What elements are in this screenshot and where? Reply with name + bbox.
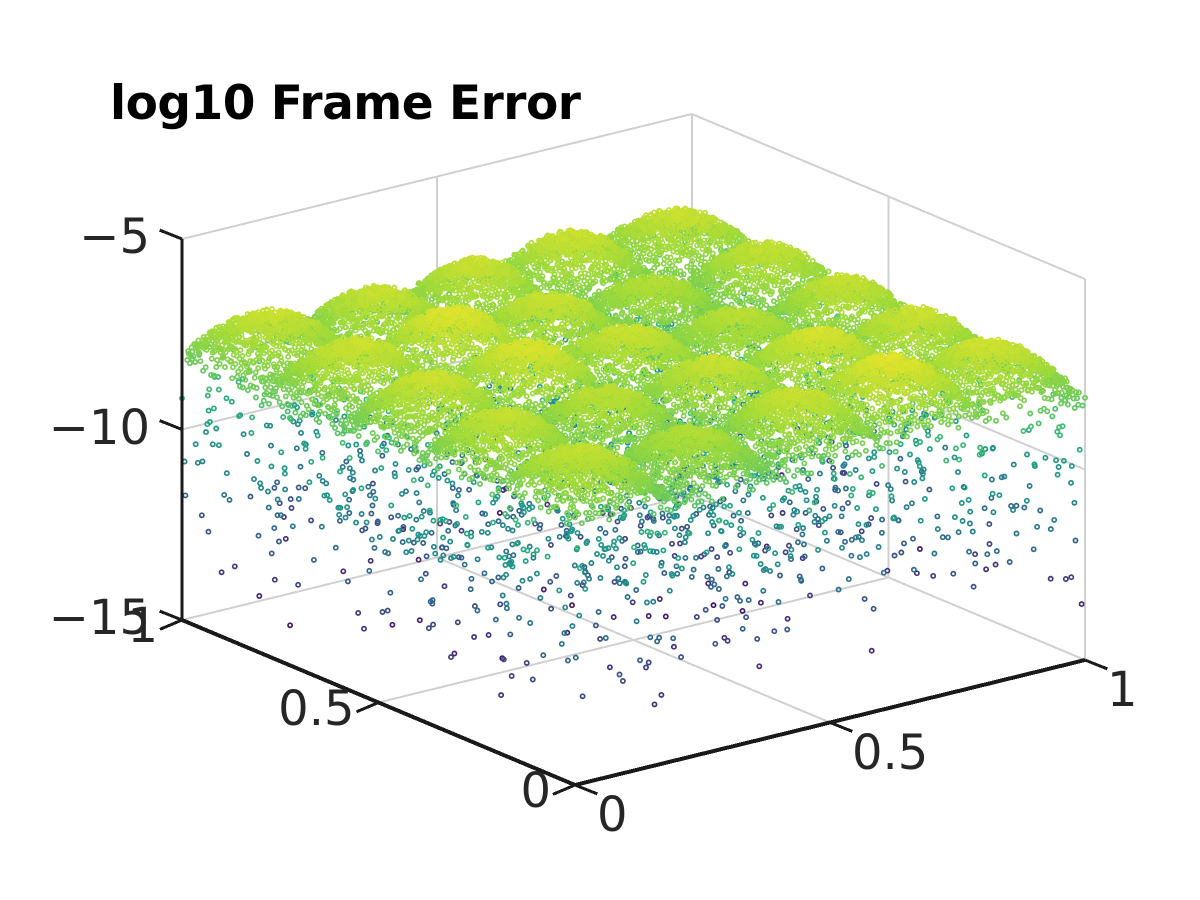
- z-tick-label-0: −5: [79, 213, 150, 261]
- x-tick-label-2: 0: [520, 767, 551, 815]
- y-tick-label-0: 0: [597, 791, 628, 839]
- y-tick-label-1: 0.5: [852, 729, 928, 777]
- y-tick-label-2: 1: [1107, 666, 1138, 714]
- z-tick-label-1: −10: [49, 404, 150, 452]
- x-tick-label-1: 0.5: [278, 685, 354, 733]
- x-tick-label-0: 1: [127, 602, 158, 650]
- figure-canvas: log10 Frame Error −5−10−1510.5000.51: [0, 0, 1200, 900]
- axes-3d: [0, 0, 1200, 900]
- scatter-points: [180, 206, 1087, 706]
